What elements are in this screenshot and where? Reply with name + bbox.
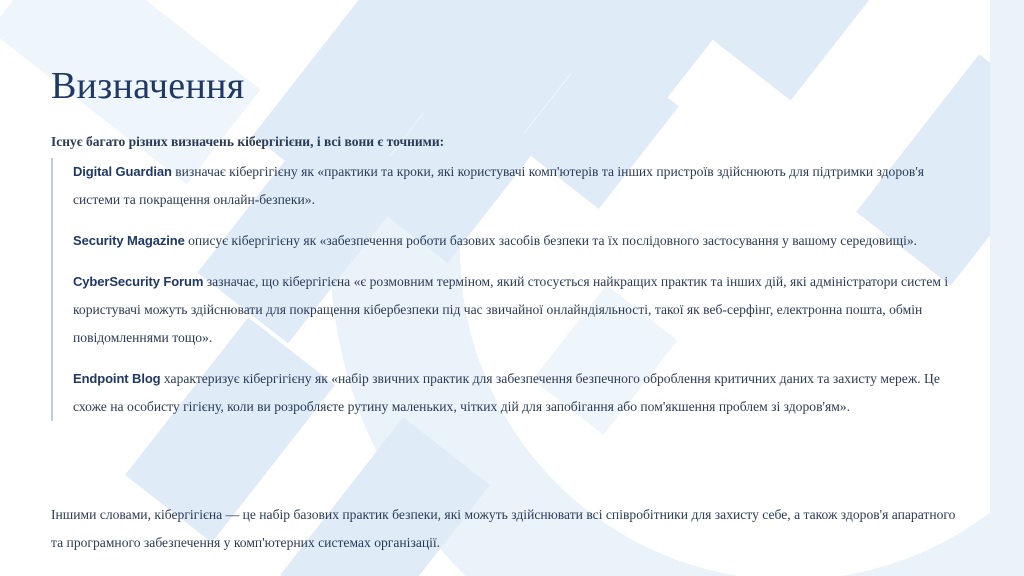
definition-source: Endpoint Blog [73,371,161,386]
definition-text: визначає кібергігієну як «практики та кр… [73,164,924,207]
definition-text: зазначає, що кібергігієна «є розмовним т… [73,274,948,345]
definitions-block: Digital Guardian визначає кібергігієну я… [51,158,961,421]
page-title: Визначення [51,63,245,109]
closing-text: Іншими словами, кібергігієна — це набір … [51,501,956,557]
definition-item: CyberSecurity Forum зазначає, що кібергі… [73,268,961,352]
intro-text: Існує багато різних визначень кібергігіє… [51,132,951,152]
definition-source: CyberSecurity Forum [73,274,203,289]
definition-source: Security Magazine [73,233,185,248]
definition-text: характеризує кібергігієну як «набір звич… [73,371,940,414]
definition-text: описує кібергігієну як «забезпечення роб… [185,233,917,248]
definition-item: Security Magazine описує кібергігієну як… [73,227,961,255]
slide-canvas: Визначення Існує багато різних визначень… [0,0,1024,576]
definition-item: Endpoint Blog характеризує кібергігієну … [73,365,961,421]
definition-source: Digital Guardian [73,164,172,179]
definition-item: Digital Guardian визначає кібергігієну я… [73,158,961,214]
slide-content: Визначення Існує багато різних визначень… [0,0,1024,576]
